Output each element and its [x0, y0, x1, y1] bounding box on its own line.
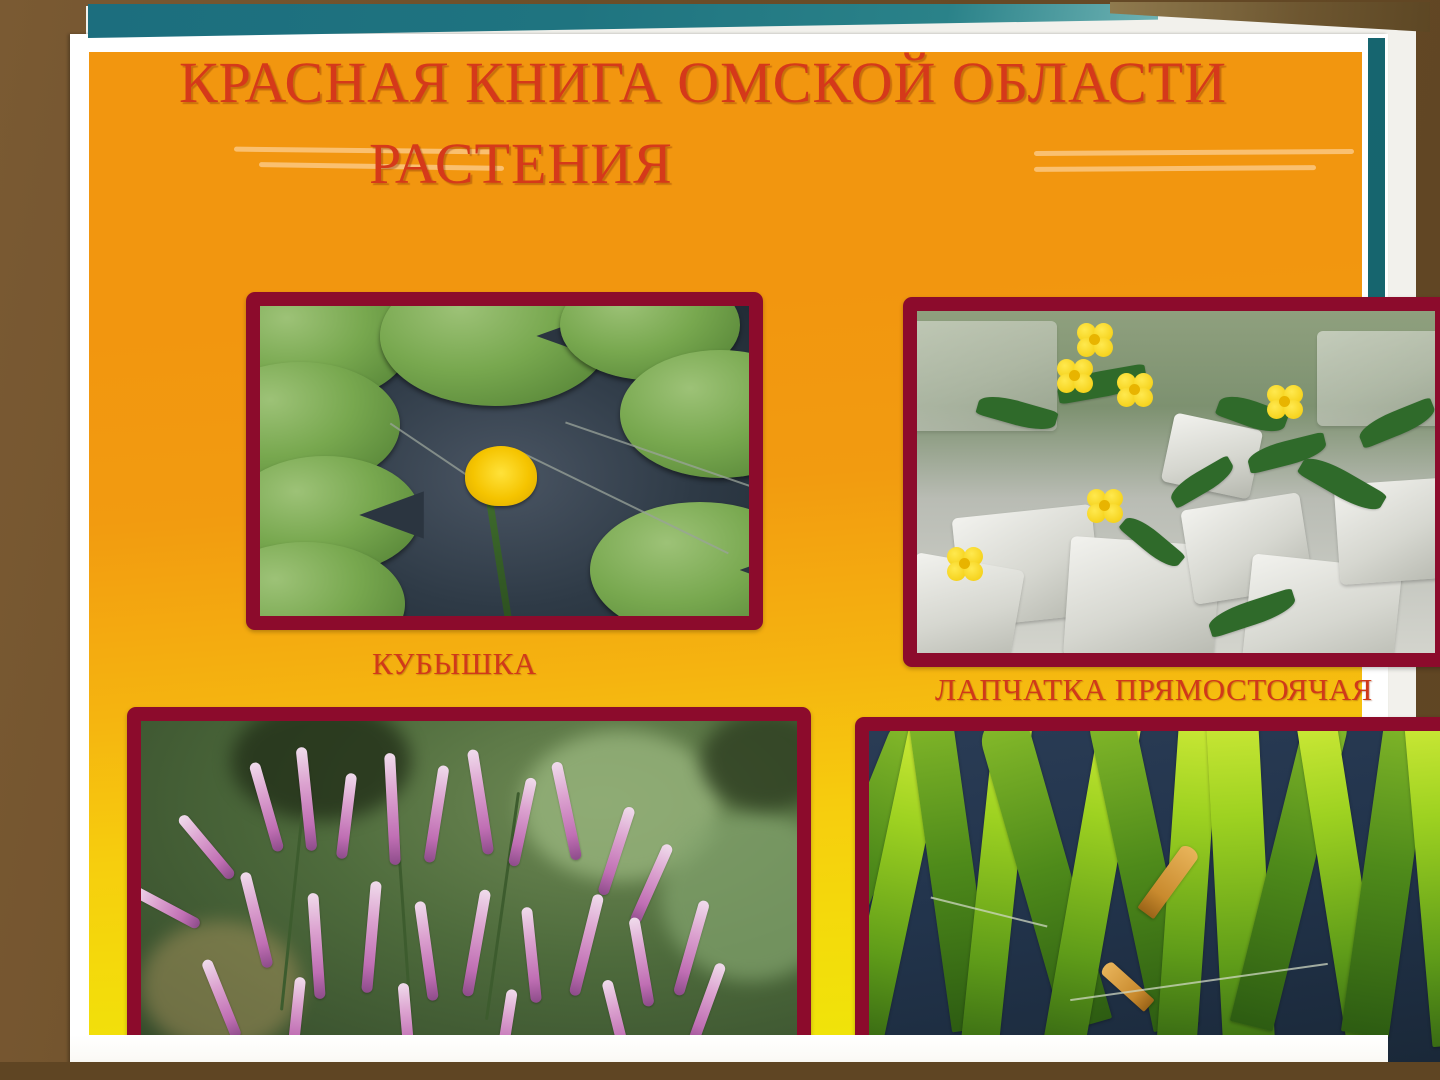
decorative-rule-right-bottom — [1034, 165, 1316, 172]
slide-canvas: КРАСНАЯ КНИГА ОМСКОЙ ОБЛАСТИ РАСТЕНИЯ — [0, 0, 1440, 1080]
lily-flower — [465, 446, 537, 506]
content-panel: КРАСНАЯ КНИГА ОМСКОЙ ОБЛАСТИ РАСТЕНИЯ — [89, 52, 1362, 1035]
photo-frame-veresk[interactable] — [127, 707, 811, 1062]
caption-kubyshka: КУБЫШКА — [372, 646, 537, 682]
photo-image-air — [869, 731, 1440, 1063]
photo-image-veresk — [141, 721, 797, 1048]
page-subtitle: РАСТЕНИЯ — [369, 130, 673, 197]
photo-image-kubyshka — [260, 306, 749, 616]
decorative-rule-right-top — [1034, 149, 1354, 156]
caption-lapchatka: ЛАПЧАТКА ПРЯМОСТОЯЧАЯ — [935, 672, 1373, 708]
photo-frame-air[interactable] — [855, 717, 1440, 1077]
bottom-brown-base — [0, 1062, 1440, 1080]
photo-image-lapchatka — [917, 311, 1435, 653]
page-title: КРАСНАЯ КНИГА ОМСКОЙ ОБЛАСТИ — [179, 49, 1227, 116]
photo-frame-kubyshka[interactable] — [246, 292, 763, 630]
photo-frame-lapchatka[interactable] — [903, 297, 1440, 667]
